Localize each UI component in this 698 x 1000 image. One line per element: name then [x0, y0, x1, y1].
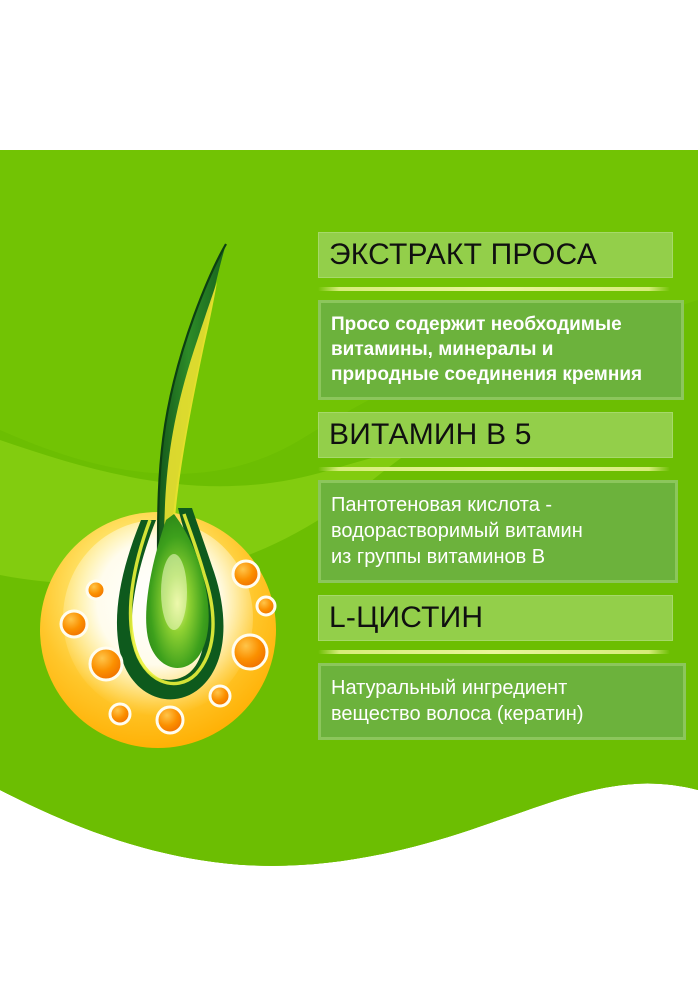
- ingredient-heading-1: ЭКСТРАКТ ПРОСА: [329, 240, 597, 270]
- ingredient-heading-2: ВИТАМИН В 5: [329, 420, 532, 450]
- ingredient-body-box-3: Натуральный ингредиент вещество волоса (…: [318, 663, 686, 740]
- ingredient-body-1: Просо содержит необходимые витамины, мин…: [331, 312, 671, 387]
- ingredient-block-1: ЭКСТРАКТ ПРОСА Просо содержит необходимы…: [318, 232, 686, 400]
- poster-canvas: ЭКСТРАКТ ПРОСА Просо содержит необходимы…: [0, 0, 698, 1000]
- ingredient-heading-bar-3: L-ЦИСТИН: [318, 595, 673, 641]
- divider-wrap-3: [318, 641, 686, 663]
- ingredient-body-box-2: Пантотеновая кислота - водорастворимый в…: [318, 480, 678, 583]
- ingredient-heading-3: L-ЦИСТИН: [329, 603, 483, 633]
- ingredient-body-2: Пантотеновая кислота - водорастворимый в…: [331, 492, 665, 570]
- ingredient-heading-bar-1: ЭКСТРАКТ ПРОСА: [318, 232, 673, 278]
- divider-wrap-2: [318, 458, 686, 480]
- divider-wrap-1: [318, 278, 686, 300]
- ingredient-heading-bar-2: ВИТАМИН В 5: [318, 412, 673, 458]
- divider-line-2: [318, 467, 670, 471]
- ingredient-block-3: L-ЦИСТИН Натуральный ингредиент вещество…: [318, 595, 686, 740]
- ingredient-body-box-1: Просо содержит необходимые витамины, мин…: [318, 300, 684, 400]
- ingredient-block-2: ВИТАМИН В 5 Пантотеновая кислота - водор…: [318, 412, 686, 583]
- hair-follicle-illustration: [8, 220, 308, 780]
- ingredient-body-3: Натуральный ингредиент вещество волоса (…: [331, 675, 673, 727]
- ingredient-list: ЭКСТРАКТ ПРОСА Просо содержит необходимы…: [318, 232, 686, 752]
- divider-line-3: [318, 650, 670, 654]
- divider-line-1: [318, 287, 670, 291]
